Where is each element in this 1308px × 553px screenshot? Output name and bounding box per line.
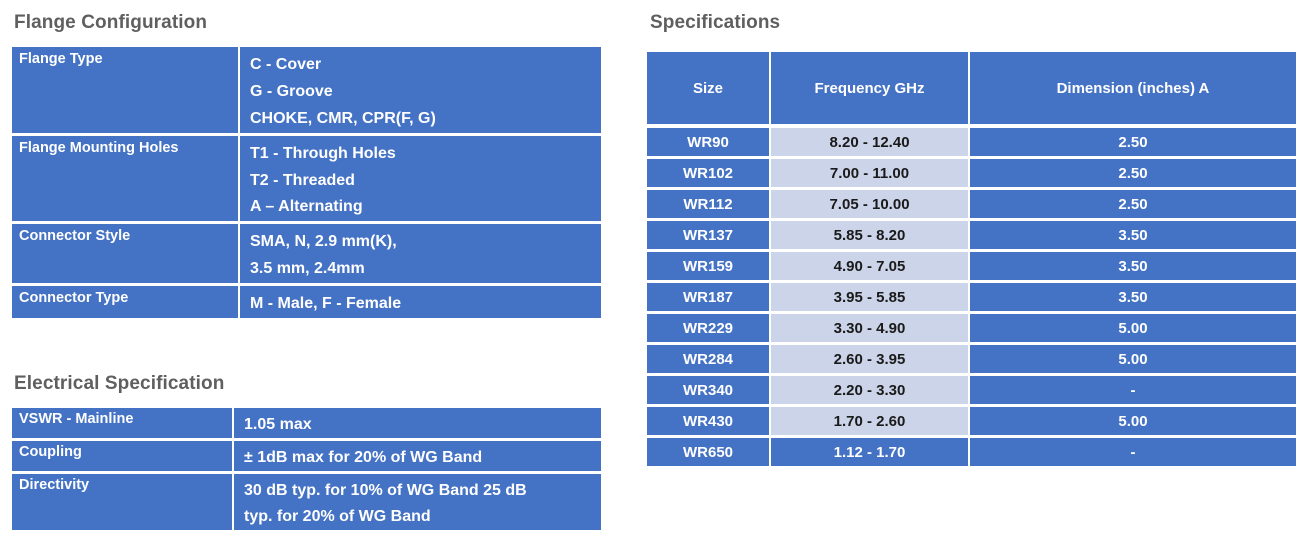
row-label: Flange Type: [12, 47, 240, 136]
cell-size: WR102: [647, 159, 771, 190]
column-header-frequency: Frequency GHz: [771, 52, 970, 128]
cell-frequency: 1.12 - 1.70: [771, 438, 970, 466]
cell-frequency: 3.95 - 5.85: [771, 283, 970, 314]
cell-size: WR112: [647, 190, 771, 221]
electrical-specification-body: VSWR - Mainline1.05 maxCoupling± 1dB max…: [12, 408, 601, 530]
table-row: Coupling± 1dB max for 20% of WG Band: [12, 441, 601, 474]
cell-frequency: 2.20 - 3.30: [771, 376, 970, 407]
cell-size: WR137: [647, 221, 771, 252]
cell-size: WR284: [647, 345, 771, 376]
specifications-body: WR908.20 - 12.402.50WR1027.00 - 11.002.5…: [647, 128, 1296, 466]
cell-dimension: 3.50: [970, 252, 1296, 283]
table-row: WR2842.60 - 3.955.00: [647, 345, 1296, 376]
value-line: M - Male, F - Female: [250, 291, 601, 318]
table-row: Directivity30 dB typ. for 10% of WG Band…: [12, 474, 601, 530]
table-row: WR1127.05 - 10.002.50: [647, 190, 1296, 221]
cell-frequency: 2.60 - 3.95: [771, 345, 970, 376]
cell-size: WR229: [647, 314, 771, 345]
cell-dimension: 5.00: [970, 345, 1296, 376]
table-row: WR1594.90 - 7.053.50: [647, 252, 1296, 283]
table-row: WR908.20 - 12.402.50: [647, 128, 1296, 159]
table-row: WR2293.30 - 4.905.00: [647, 314, 1296, 345]
row-label: Flange Mounting Holes: [12, 136, 240, 225]
row-label: Directivity: [12, 474, 234, 530]
value-line: 1.05 max: [244, 412, 601, 438]
row-value: T1 - Through HolesT2 - ThreadedA – Alter…: [240, 136, 601, 225]
cell-frequency: 5.85 - 8.20: [771, 221, 970, 252]
row-label: VSWR - Mainline: [12, 408, 234, 441]
cell-dimension: 5.00: [970, 314, 1296, 345]
cell-frequency: 7.00 - 11.00: [771, 159, 970, 190]
value-line: T2 - Threaded: [250, 168, 601, 195]
specifications-header-row: Size Frequency GHz Dimension (inches) A: [647, 52, 1296, 128]
table-row: Flange TypeC - CoverG - GrooveCHOKE, CMR…: [12, 47, 601, 136]
cell-size: WR90: [647, 128, 771, 159]
specifications-header: Size Frequency GHz Dimension (inches) A: [647, 52, 1296, 128]
value-line: 3.5 mm, 2.4mm: [250, 256, 601, 283]
cell-dimension: 5.00: [970, 407, 1296, 438]
table-row: WR3402.20 - 3.30-: [647, 376, 1296, 407]
electrical-specification-table: VSWR - Mainline1.05 maxCoupling± 1dB max…: [12, 408, 601, 530]
value-line: SMA, N, 2.9 mm(K),: [250, 229, 601, 256]
table-row: WR6501.12 - 1.70-: [647, 438, 1296, 466]
cell-dimension: 3.50: [970, 283, 1296, 314]
table-row: Connector TypeM - Male, F - Female: [12, 286, 601, 318]
electrical-specification-heading: Electrical Specification: [14, 373, 224, 395]
row-label: Connector Type: [12, 286, 240, 318]
value-line: C - Cover: [250, 52, 601, 79]
table-row: Flange Mounting HolesT1 - Through HolesT…: [12, 136, 601, 225]
row-value: SMA, N, 2.9 mm(K),3.5 mm, 2.4mm: [240, 224, 601, 286]
cell-size: WR340: [647, 376, 771, 407]
table-row: WR1375.85 - 8.203.50: [647, 221, 1296, 252]
cell-frequency: 7.05 - 10.00: [771, 190, 970, 221]
row-value: C - CoverG - GrooveCHOKE, CMR, CPR(F, G): [240, 47, 601, 136]
cell-frequency: 3.30 - 4.90: [771, 314, 970, 345]
value-line: T1 - Through Holes: [250, 141, 601, 168]
flange-configuration-table: Flange TypeC - CoverG - GrooveCHOKE, CMR…: [12, 47, 601, 318]
row-value: 1.05 max: [234, 408, 601, 441]
table-row: WR1027.00 - 11.002.50: [647, 159, 1296, 190]
flange-configuration-body: Flange TypeC - CoverG - GrooveCHOKE, CMR…: [12, 47, 601, 318]
cell-frequency: 8.20 - 12.40: [771, 128, 970, 159]
cell-frequency: 4.90 - 7.05: [771, 252, 970, 283]
cell-dimension: 2.50: [970, 128, 1296, 159]
cell-dimension: 3.50: [970, 221, 1296, 252]
row-value: 30 dB typ. for 10% of WG Band 25 dBtyp. …: [234, 474, 601, 530]
specifications-heading: Specifications: [650, 12, 780, 34]
value-line: ± 1dB max for 20% of WG Band: [244, 445, 601, 471]
cell-dimension: -: [970, 376, 1296, 407]
table-row: WR4301.70 - 2.605.00: [647, 407, 1296, 438]
value-line: CHOKE, CMR, CPR(F, G): [250, 106, 601, 133]
specifications-table: Size Frequency GHz Dimension (inches) A …: [647, 52, 1296, 466]
row-label: Connector Style: [12, 224, 240, 286]
table-row: Connector StyleSMA, N, 2.9 mm(K),3.5 mm,…: [12, 224, 601, 286]
value-line: G - Groove: [250, 79, 601, 106]
column-header-size: Size: [647, 52, 771, 128]
cell-dimension: -: [970, 438, 1296, 466]
cell-dimension: 2.50: [970, 190, 1296, 221]
value-line: typ. for 20% of WG Band: [244, 504, 601, 530]
cell-size: WR159: [647, 252, 771, 283]
cell-frequency: 1.70 - 2.60: [771, 407, 970, 438]
row-label: Coupling: [12, 441, 234, 474]
cell-dimension: 2.50: [970, 159, 1296, 190]
cell-size: WR650: [647, 438, 771, 466]
flange-configuration-heading: Flange Configuration: [14, 12, 207, 34]
row-value: ± 1dB max for 20% of WG Band: [234, 441, 601, 474]
table-row: VSWR - Mainline1.05 max: [12, 408, 601, 441]
row-value: M - Male, F - Female: [240, 286, 601, 318]
column-header-dimension: Dimension (inches) A: [970, 52, 1296, 128]
value-line: A – Alternating: [250, 194, 601, 221]
value-line: 30 dB typ. for 10% of WG Band 25 dB: [244, 478, 601, 504]
cell-size: WR430: [647, 407, 771, 438]
table-row: WR1873.95 - 5.853.50: [647, 283, 1296, 314]
cell-size: WR187: [647, 283, 771, 314]
